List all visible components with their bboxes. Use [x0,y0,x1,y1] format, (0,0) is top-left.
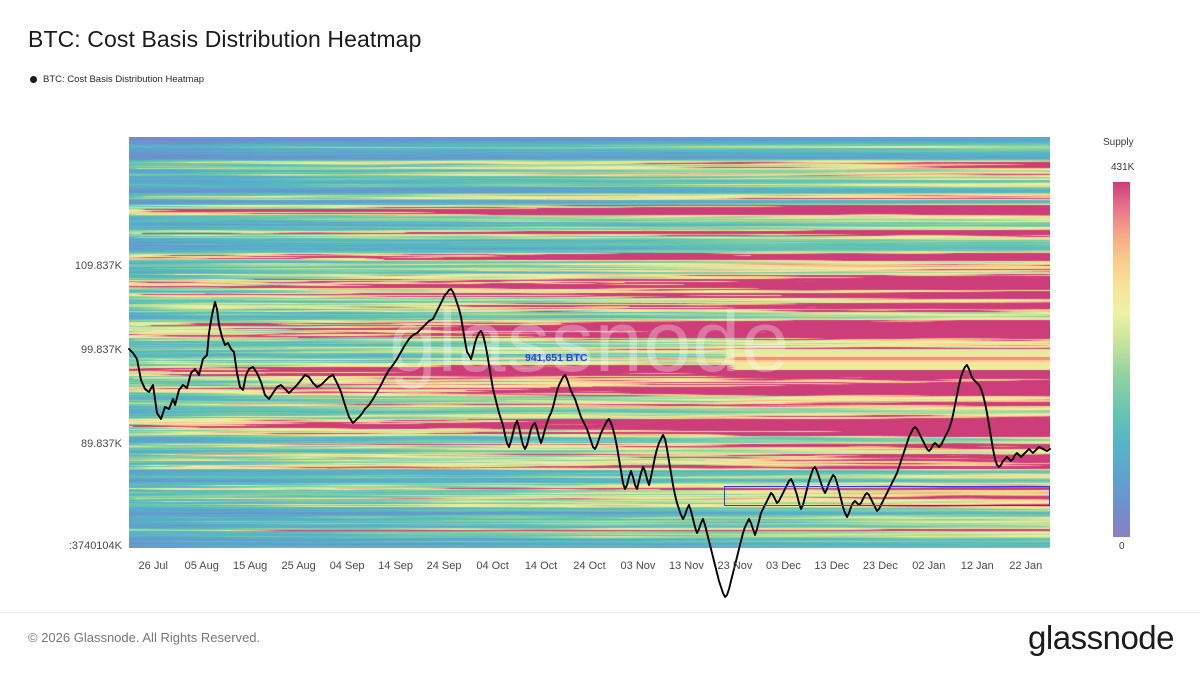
x-axis-tick-label: 13 Dec [814,560,849,572]
highlight-band-box[interactable] [724,486,1050,506]
colorbar-min-label: 0 [1119,541,1125,552]
footer-copyright: © 2026 Glassnode. All Rights Reserved. [28,630,260,645]
footer-divider [0,612,1200,613]
x-axis-tick-label: 02 Jan [912,560,945,572]
y-axis-tick-label: :3740104K [69,540,122,552]
legend-item-label: BTC: Cost Basis Distribution Heatmap [43,74,204,85]
x-axis-tick-label: 12 Jan [961,560,994,572]
x-axis-tick-label: 24 Oct [573,560,605,572]
x-axis-tick-label: 23 Nov [717,560,752,572]
x-axis-tick-label: 03 Nov [621,560,656,572]
y-axis-tick-label: 99.837K [81,344,122,356]
page-title: BTC: Cost Basis Distribution Heatmap [28,26,421,53]
x-axis-tick-label: 25 Aug [282,560,316,572]
x-axis-tick-label: 15 Aug [233,560,267,572]
x-axis-tick-label: 23 Dec [863,560,898,572]
y-axis: 109.837K99.837K89.837K:3740104K [0,137,122,548]
x-axis-tick-label: 24 Sep [427,560,462,572]
btc-price-line [129,289,1050,597]
chart-legend: BTC: Cost Basis Distribution Heatmap [30,74,204,85]
x-axis-tick-label: 14 Sep [378,560,413,572]
x-axis-tick-label: 13 Nov [669,560,704,572]
colorbar-max-label: 431K [1111,162,1134,173]
legend-dot-icon [30,76,37,83]
x-axis-tick-label: 22 Jan [1009,560,1042,572]
y-axis-tick-label: 109.837K [75,260,122,272]
heatmap-plot-area[interactable]: glassnode [129,137,1050,548]
highlight-band-label: 941,651 BTC [525,352,587,364]
x-axis: 26 Jul05 Aug15 Aug25 Aug04 Sep14 Sep24 S… [129,560,1050,578]
x-axis-tick-label: 04 Oct [476,560,508,572]
glassnode-logo: glassnode [1028,619,1174,657]
x-axis-tick-label: 26 Jul [139,560,168,572]
x-axis-tick-label: 14 Oct [525,560,557,572]
colorbar-title: Supply [1103,137,1134,148]
colorbar-gradient [1113,182,1130,537]
x-axis-tick-label: 05 Aug [185,560,219,572]
x-axis-tick-label: 03 Dec [766,560,801,572]
y-axis-tick-label: 89.837K [81,438,122,450]
x-axis-tick-label: 04 Sep [330,560,365,572]
